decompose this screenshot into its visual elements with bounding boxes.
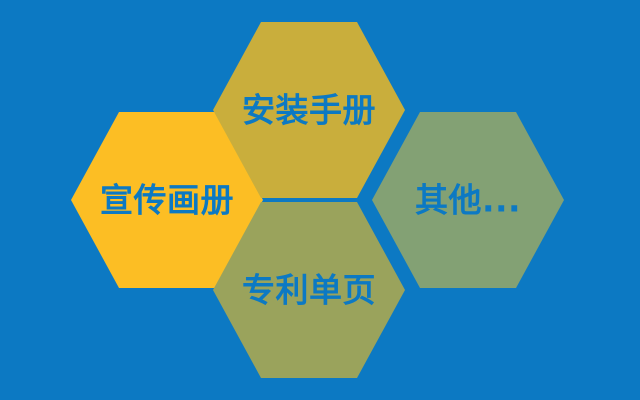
hexagon-label-others: 其他... [415,181,521,220]
hexagon-label-patent-flyer: 专利单页 [242,271,376,310]
hexagon-label-install-manual: 安装手册 [242,91,376,130]
hexagon-node-others[interactable]: 其他... [372,112,564,288]
diagram-canvas: 宣传画册 安装手册 专利单页 其他... [0,0,640,400]
hexagon-label-brochure: 宣传画册 [100,181,234,220]
hexagon-diagram: 宣传画册 安装手册 专利单页 其他... [0,0,640,400]
